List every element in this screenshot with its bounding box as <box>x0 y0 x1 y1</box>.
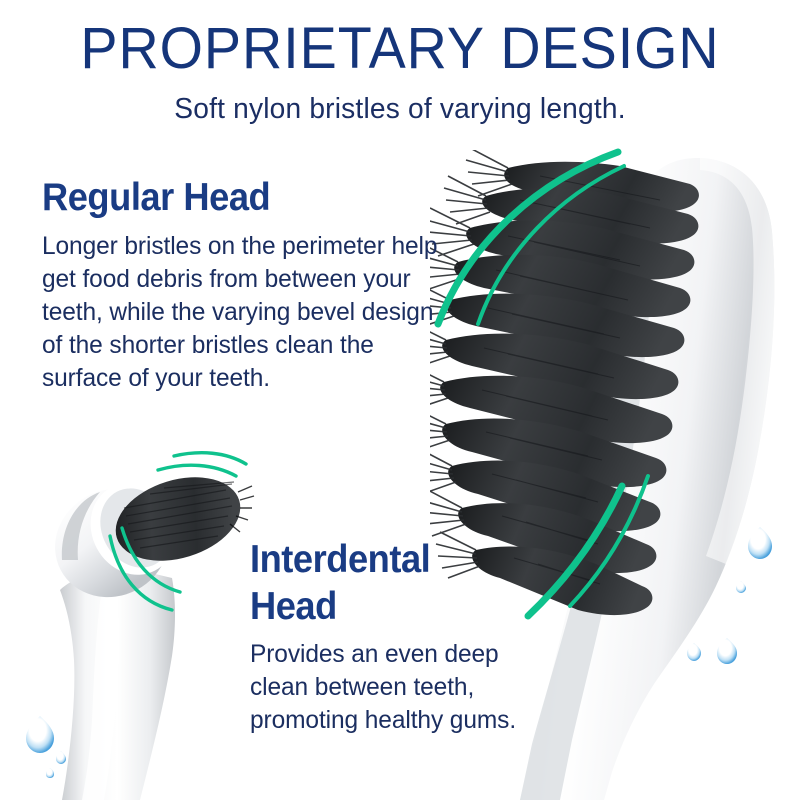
water-droplet <box>736 581 746 593</box>
water-droplet <box>56 751 66 764</box>
water-droplet <box>46 768 54 778</box>
infographic-page: PROPRIETARY DESIGN Soft nylon bristles o… <box>0 0 800 800</box>
interdental-head-description: Provides an even deep clean between teet… <box>250 638 534 737</box>
water-droplet <box>687 643 701 661</box>
interdental-neck <box>60 568 175 800</box>
regular-head-heading: Regular Head <box>42 176 270 220</box>
interdental-head-heading: Interdental Head <box>250 536 430 630</box>
interdental-head-cylinder <box>36 468 191 617</box>
interdental-bristle-tuft <box>105 463 254 575</box>
water-droplet <box>748 527 772 559</box>
teal-motion-arc-group-regular <box>438 152 648 616</box>
page-subtitle: Soft nylon bristles of varying length. <box>12 92 788 126</box>
water-droplet <box>26 716 54 753</box>
page-title: PROPRIETARY DESIGN <box>16 18 784 80</box>
water-droplet <box>717 638 737 664</box>
brush-head-body <box>520 158 774 800</box>
regular-head-description: Longer bristles on the perimeter help ge… <box>42 230 454 395</box>
teal-motion-arc-group-interdental <box>110 453 246 610</box>
